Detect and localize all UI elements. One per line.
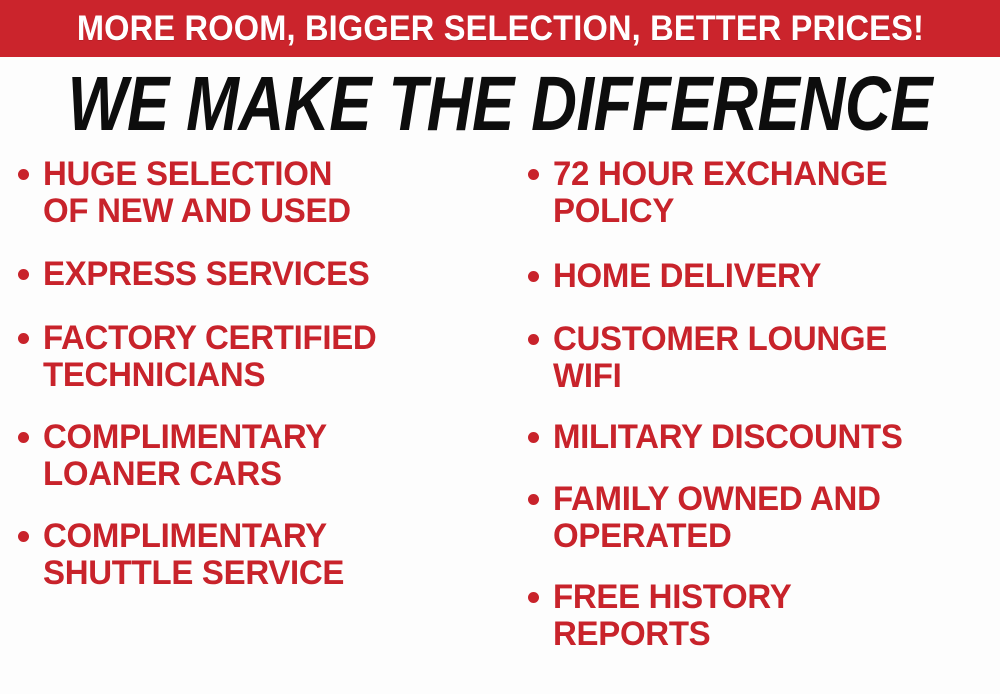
banner-headline-text: MORE ROOM, BIGGER SELECTION, BETTER PRIC… (76, 11, 923, 46)
list-item: HUGE SELECTION OF NEW AND USED (18, 156, 508, 230)
list-item: HOME DELIVERY (528, 258, 1000, 295)
bullet-dot-icon (18, 432, 29, 443)
feature-text: FAMILY OWNED AND OPERATED (553, 481, 987, 555)
feature-text: HUGE SELECTION OF NEW AND USED (43, 156, 494, 230)
bullet-dot-icon (18, 269, 29, 280)
feature-text: COMPLIMENTARY SHUTTLE SERVICE (43, 518, 494, 592)
bullet-dot-icon (528, 271, 539, 282)
feature-text: COMPLIMENTARY LOANER CARS (43, 419, 494, 493)
list-item: EXPRESS SERVICES (18, 256, 508, 293)
bullet-dot-icon (528, 169, 539, 180)
features-column-left: HUGE SELECTION OF NEW AND USED EXPRESS S… (0, 156, 508, 694)
list-item: FACTORY CERTIFIED TECHNICIANS (18, 320, 508, 394)
features-column-right: 72 HOUR EXCHANGE POLICY HOME DELIVERY CU… (508, 156, 1000, 694)
promo-poster: MORE ROOM, BIGGER SELECTION, BETTER PRIC… (0, 0, 1000, 694)
list-item: 72 HOUR EXCHANGE POLICY (528, 156, 1000, 230)
bullet-dot-icon (528, 432, 539, 443)
features-columns: HUGE SELECTION OF NEW AND USED EXPRESS S… (0, 156, 1000, 694)
bullet-dot-icon (18, 531, 29, 542)
feature-text: CUSTOMER LOUNGE WIFI (553, 321, 987, 395)
headline-container: WE MAKE THE DIFFERENCE (0, 66, 1000, 142)
list-item: COMPLIMENTARY LOANER CARS (18, 419, 508, 493)
feature-text: EXPRESS SERVICES (43, 256, 494, 293)
feature-text: MILITARY DISCOUNTS (553, 419, 987, 456)
page-title: WE MAKE THE DIFFERENCE (68, 65, 932, 143)
list-item: COMPLIMENTARY SHUTTLE SERVICE (18, 518, 508, 592)
feature-text: HOME DELIVERY (553, 258, 987, 295)
list-item: FAMILY OWNED AND OPERATED (528, 481, 1000, 555)
list-item: FREE HISTORY REPORTS (528, 579, 1000, 653)
bullet-dot-icon (528, 334, 539, 345)
feature-text: FREE HISTORY REPORTS (553, 579, 987, 653)
feature-text: FACTORY CERTIFIED TECHNICIANS (43, 320, 494, 394)
list-item: MILITARY DISCOUNTS (528, 419, 1000, 456)
bullet-dot-icon (528, 494, 539, 505)
list-item: CUSTOMER LOUNGE WIFI (528, 321, 1000, 395)
bullet-dot-icon (528, 592, 539, 603)
bullet-dot-icon (18, 169, 29, 180)
bullet-dot-icon (18, 333, 29, 344)
feature-text: 72 HOUR EXCHANGE POLICY (553, 156, 987, 230)
top-banner: MORE ROOM, BIGGER SELECTION, BETTER PRIC… (0, 0, 1000, 57)
